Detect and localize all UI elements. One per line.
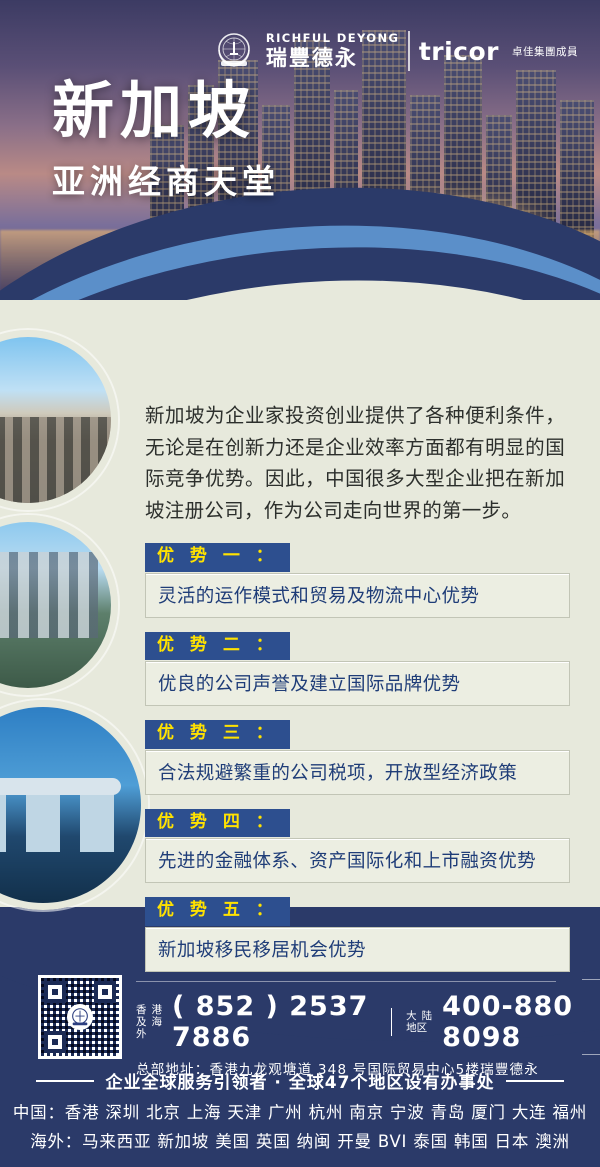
regions-overseas: 海外：马来西亚 新加坡 美国 英国 纳闽 开曼 BVI 泰国 韩国 日本 澳洲 <box>0 1128 600 1157</box>
advantage-text: 优良的公司声誉及建立国际品牌优势 <box>145 661 570 706</box>
advantage-label: 优 势 四 ： <box>145 809 290 838</box>
hero-title-group: 新加坡 亚洲经商天堂 <box>52 78 280 203</box>
qr-code-icon[interactable] <box>38 975 122 1059</box>
phone-divider <box>391 1008 392 1036</box>
cn-phone-number[interactable]: 400-880 8098 <box>442 991 600 1053</box>
advantage-item: 优 势 一 ： 灵活的运作模式和贸易及物流中心优势 <box>145 543 570 618</box>
advantage-label: 优 势 二 ： <box>145 632 290 661</box>
slogan-row: 企业全球服务引领者 · 全球47个地区设有办事处 <box>0 1068 600 1093</box>
hk-phone-tag: 香港及海 外 <box>136 1004 162 1040</box>
page-title: 新加坡 <box>52 78 280 143</box>
photo-marina-bay-sands <box>0 700 148 910</box>
brand-name-en: RICHFUL DEYONG <box>266 33 399 45</box>
hk-phone-number[interactable]: ( 852 ) 2537 7886 <box>172 991 377 1053</box>
logo-divider <box>408 31 410 71</box>
partner-logo-cn: 卓佳集團成員 <box>512 44 578 59</box>
cn-phone-tag: 大陆地区 <box>406 1010 432 1034</box>
advantage-text: 新加坡移民移居机会优势 <box>145 927 570 972</box>
address-curve-decor <box>582 979 600 1055</box>
advantage-text: 合法规避繁重的公司税项，开放型经济政策 <box>145 750 570 795</box>
partner-logo: tricor <box>419 37 499 66</box>
advantage-text: 灵活的运作模式和贸易及物流中心优势 <box>145 573 570 618</box>
advantage-item: 优 势 四 ： 先进的金融体系、资产国际化和上市融资优势 <box>145 809 570 884</box>
advantage-label: 优 势 一 ： <box>145 543 290 572</box>
advantage-text: 先进的金融体系、资产国际化和上市融资优势 <box>145 838 570 883</box>
regions-china: 中国：香港 深圳 北京 上海 天津 广州 杭州 南京 宁波 青岛 厦门 大连 福… <box>0 1099 600 1128</box>
brand-logo: RICHFUL DEYONG 瑞豐德永 tricor 卓佳集團成員 <box>211 28 578 74</box>
crest-emblem-icon <box>211 28 257 74</box>
brand-name-cn: 瑞豐德永 <box>266 48 399 69</box>
advantage-item: 优 势 三 ： 合法规避繁重的公司税项，开放型经济政策 <box>145 720 570 795</box>
advantage-list: 优 势 一 ： 灵活的运作模式和贸易及物流中心优势 优 势 二 ： 优良的公司声… <box>145 543 570 986</box>
phone-row: 香港及海 外 ( 852 ) 2537 7886 大陆地区 400-880 80… <box>136 991 600 1053</box>
slogan-text: 企业全球服务引领者 · 全球47个地区设有办事处 <box>106 1068 495 1093</box>
regions-block: 中国：香港 深圳 北京 上海 天津 广州 杭州 南京 宁波 青岛 厦门 大连 福… <box>0 1099 600 1157</box>
advantage-item: 优 势 二 ： 优良的公司声誉及建立国际品牌优势 <box>145 632 570 707</box>
advantage-item: 优 势 五 ： 新加坡移民移居机会优势 <box>145 897 570 972</box>
advantage-label: 优 势 三 ： <box>145 720 290 749</box>
intro-paragraph: 新加坡为企业家投资创业提供了各种便利条件，无论是在创新力还是企业效率方面都有明显… <box>145 400 565 526</box>
poster-root: RICHFUL DEYONG 瑞豐德永 tricor 卓佳集團成員 新加坡 亚洲… <box>0 0 600 1167</box>
contact-block: 香港及海 外 ( 852 ) 2537 7886 大陆地区 400-880 80… <box>38 975 600 1078</box>
page-subtitle: 亚洲经商天堂 <box>52 155 280 203</box>
photo-cityscape-greenery <box>0 515 118 695</box>
photo-shophouse-street <box>0 330 118 510</box>
slogan-rule-left <box>36 1080 94 1082</box>
slogan-rule-right <box>506 1080 564 1082</box>
advantage-label: 优 势 五 ： <box>145 897 290 926</box>
